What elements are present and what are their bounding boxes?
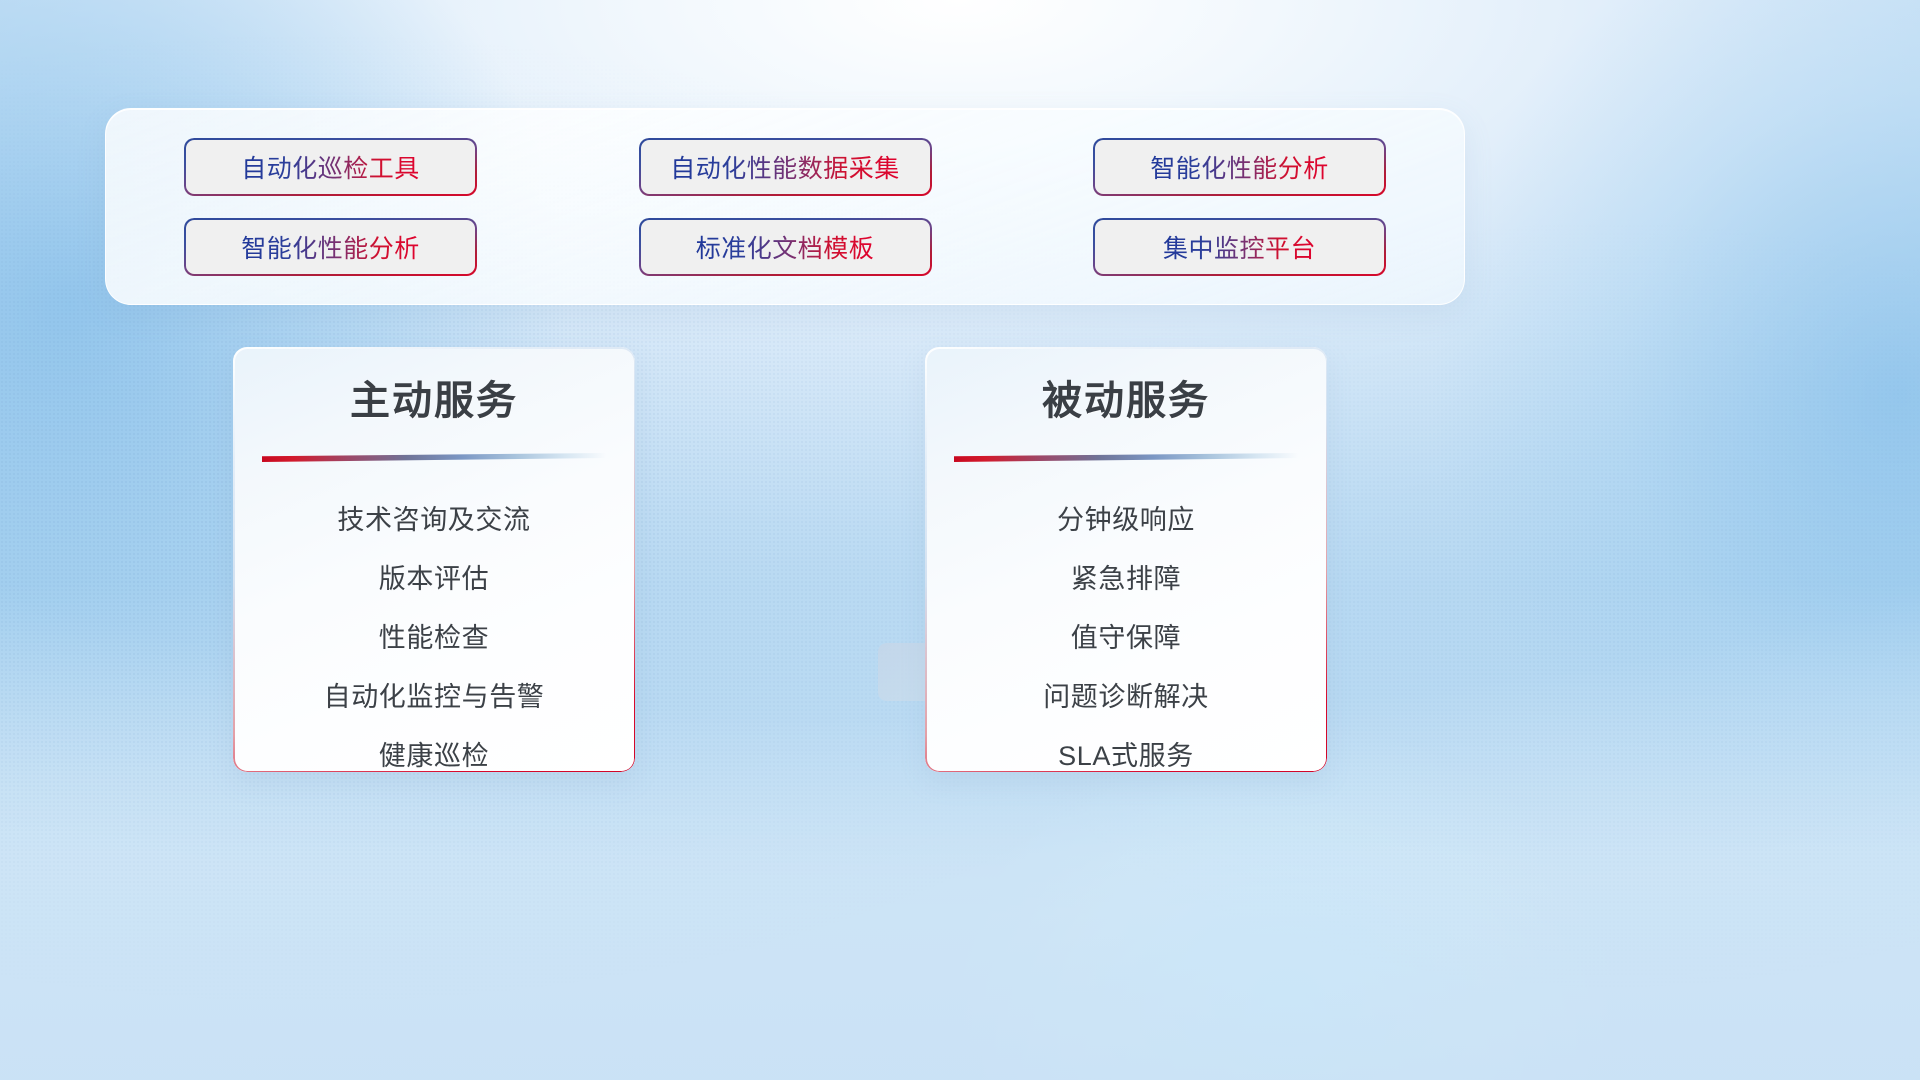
- service-card-proactive[interactable]: 主动服务 技术咨询及交流 版本评估 性能检查 自动化监控与告警 健康巡检: [233, 347, 635, 772]
- service-list-item[interactable]: SLA式服务: [925, 727, 1327, 772]
- capability-pill-label: 智能化性能分析: [241, 229, 420, 265]
- capability-pill-intelligent-performance-analysis-2[interactable]: 智能化性能分析: [184, 218, 477, 276]
- service-list-item[interactable]: 分钟级响应: [925, 491, 1327, 550]
- service-card-body: 主动服务 技术咨询及交流 版本评估 性能检查 自动化监控与告警 健康巡检: [233, 347, 635, 772]
- capability-pill-label: 智能化性能分析: [1150, 149, 1329, 185]
- capability-pill-automated-inspection-tool[interactable]: 自动化巡检工具: [184, 138, 477, 196]
- service-card-title: 主动服务: [233, 377, 635, 425]
- service-card-body: 被动服务 分钟级响应 紧急排障 值守保障 问题诊断解决 SLA式服务: [925, 347, 1327, 772]
- service-list-item[interactable]: 版本评估: [233, 550, 635, 609]
- service-list-item[interactable]: 问题诊断解决: [925, 668, 1327, 727]
- capability-pill-centralized-monitoring-platform[interactable]: 集中监控平台: [1093, 218, 1386, 276]
- capabilities-row-1: 自动化巡检工具 自动化性能数据采集 智能化性能分析: [184, 138, 1386, 196]
- capability-pill-label: 标准化文档模板: [696, 229, 875, 265]
- service-list-item[interactable]: 值守保障: [925, 609, 1327, 668]
- service-list-item[interactable]: 自动化监控与告警: [233, 668, 635, 727]
- capability-pill-label: 自动化巡检工具: [241, 149, 420, 185]
- capability-pill-label: 自动化性能数据采集: [670, 149, 900, 185]
- service-item-list: 分钟级响应 紧急排障 值守保障 问题诊断解决 SLA式服务: [925, 491, 1327, 772]
- title-divider: [954, 453, 1298, 462]
- service-card-title: 被动服务: [925, 377, 1327, 425]
- capability-pill-standardized-document-template[interactable]: 标准化文档模板: [639, 218, 932, 276]
- title-divider: [262, 453, 606, 462]
- service-list-item[interactable]: 健康巡检: [233, 727, 635, 772]
- capability-pill-automated-performance-data-collection[interactable]: 自动化性能数据采集: [639, 138, 932, 196]
- capabilities-panel: 自动化巡检工具 自动化性能数据采集 智能化性能分析 智能化性能分析 标准化文档模…: [105, 108, 1465, 305]
- capability-pill-intelligent-performance-analysis-1[interactable]: 智能化性能分析: [1093, 138, 1386, 196]
- capabilities-row-2: 智能化性能分析 标准化文档模板 集中监控平台: [184, 218, 1386, 276]
- service-card-reactive[interactable]: 被动服务 分钟级响应 紧急排障 值守保障 问题诊断解决 SLA式服务: [925, 347, 1327, 772]
- service-list-item[interactable]: 性能检查: [233, 609, 635, 668]
- service-list-item[interactable]: 紧急排障: [925, 550, 1327, 609]
- service-list-item[interactable]: 技术咨询及交流: [233, 491, 635, 550]
- service-item-list: 技术咨询及交流 版本评估 性能检查 自动化监控与告警 健康巡检: [233, 491, 635, 772]
- capability-pill-label: 集中监控平台: [1163, 229, 1316, 265]
